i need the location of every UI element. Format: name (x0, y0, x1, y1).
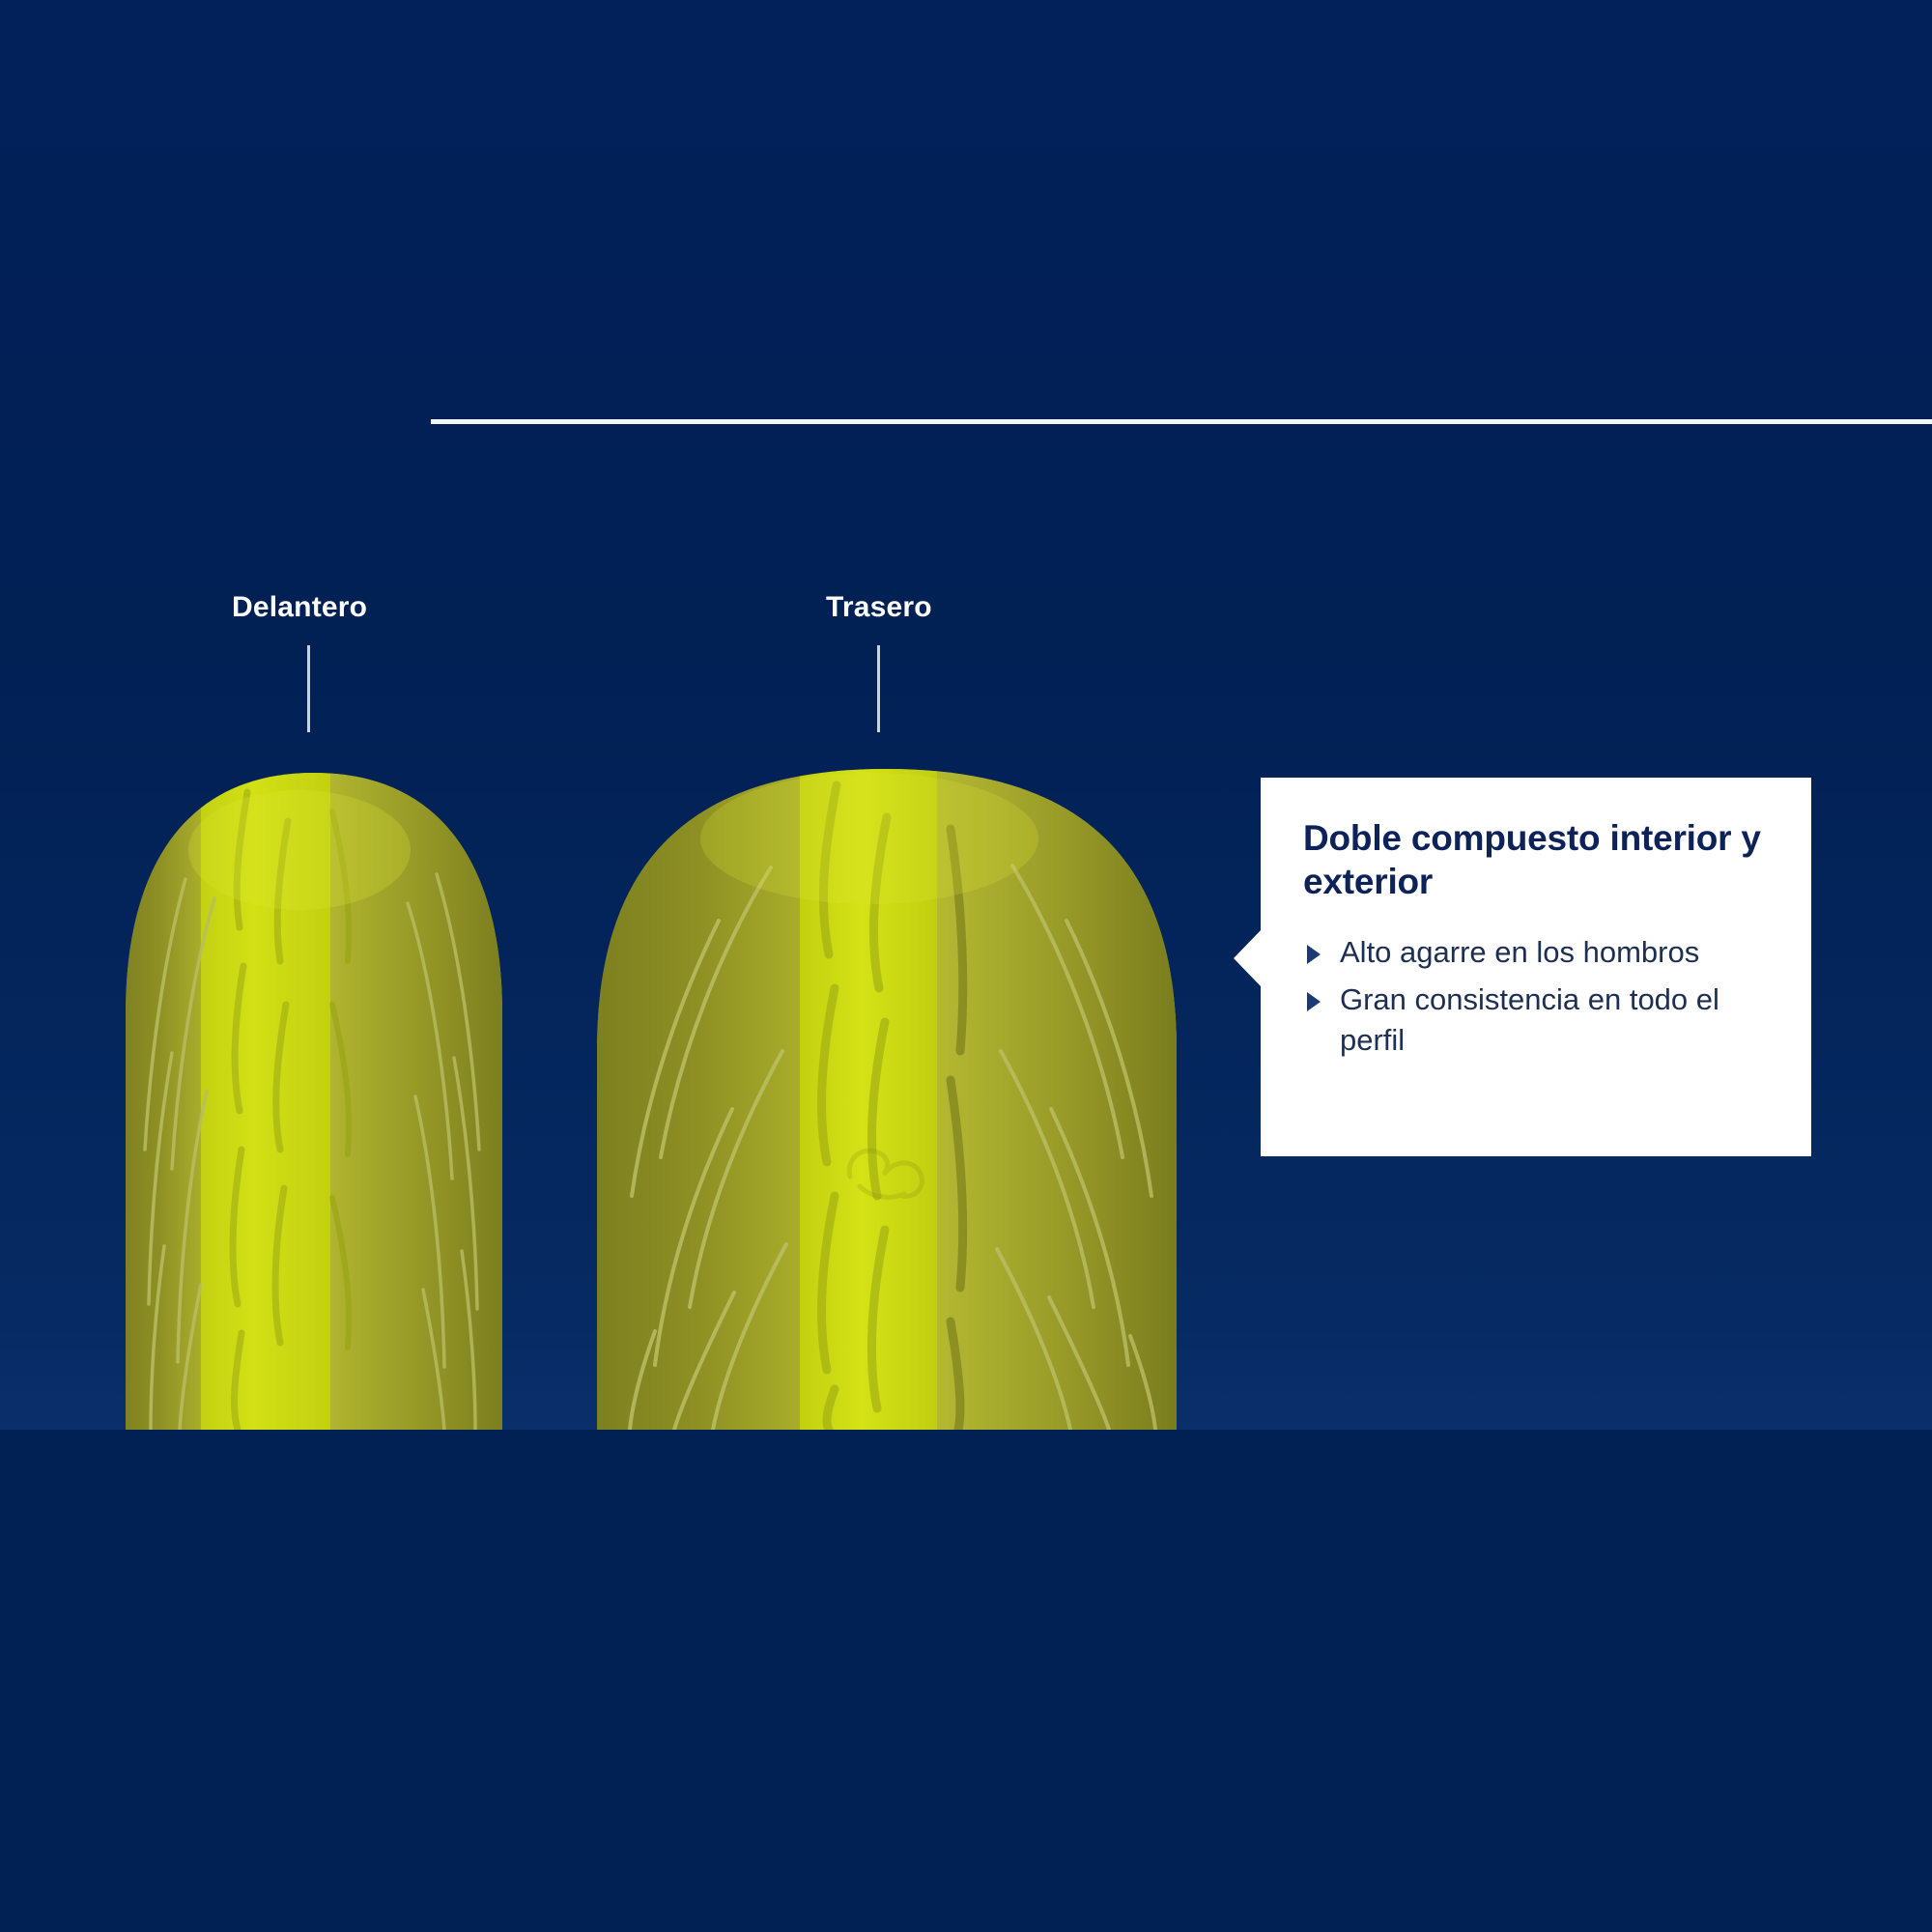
background-lower (0, 1430, 1932, 1932)
callout-bullet-text: Alto agarre en los hombros (1340, 935, 1699, 969)
slide-canvas: Delantero Trasero Doble compuesto interi… (0, 0, 1932, 1932)
callout-bullet-text: Gran consistencia en todo el perfil (1340, 982, 1719, 1056)
callout-bullet-list: Alto agarre en los hombros Gran consiste… (1303, 932, 1769, 1060)
bullet-arrow-icon (1307, 992, 1321, 1011)
tire-front-graphic (126, 763, 502, 1430)
bullet-arrow-icon (1307, 945, 1321, 964)
callout-bullet-item: Alto agarre en los hombros (1303, 932, 1769, 972)
callout-title: Doble compuesto interior y exterior (1303, 816, 1769, 903)
tire-label-rear: Trasero (826, 591, 932, 624)
tire-rear-graphic (597, 761, 1177, 1430)
callout-card: Doble compuesto interior y exterior Alto… (1261, 778, 1811, 1156)
callout-bullet-item: Gran consistencia en todo el perfil (1303, 980, 1769, 1059)
header-divider-rule (431, 419, 1932, 424)
leader-line-front (307, 645, 310, 732)
callout-pointer-arrow (1234, 929, 1262, 987)
tire-label-front: Delantero (232, 591, 367, 624)
leader-line-rear (877, 645, 880, 732)
